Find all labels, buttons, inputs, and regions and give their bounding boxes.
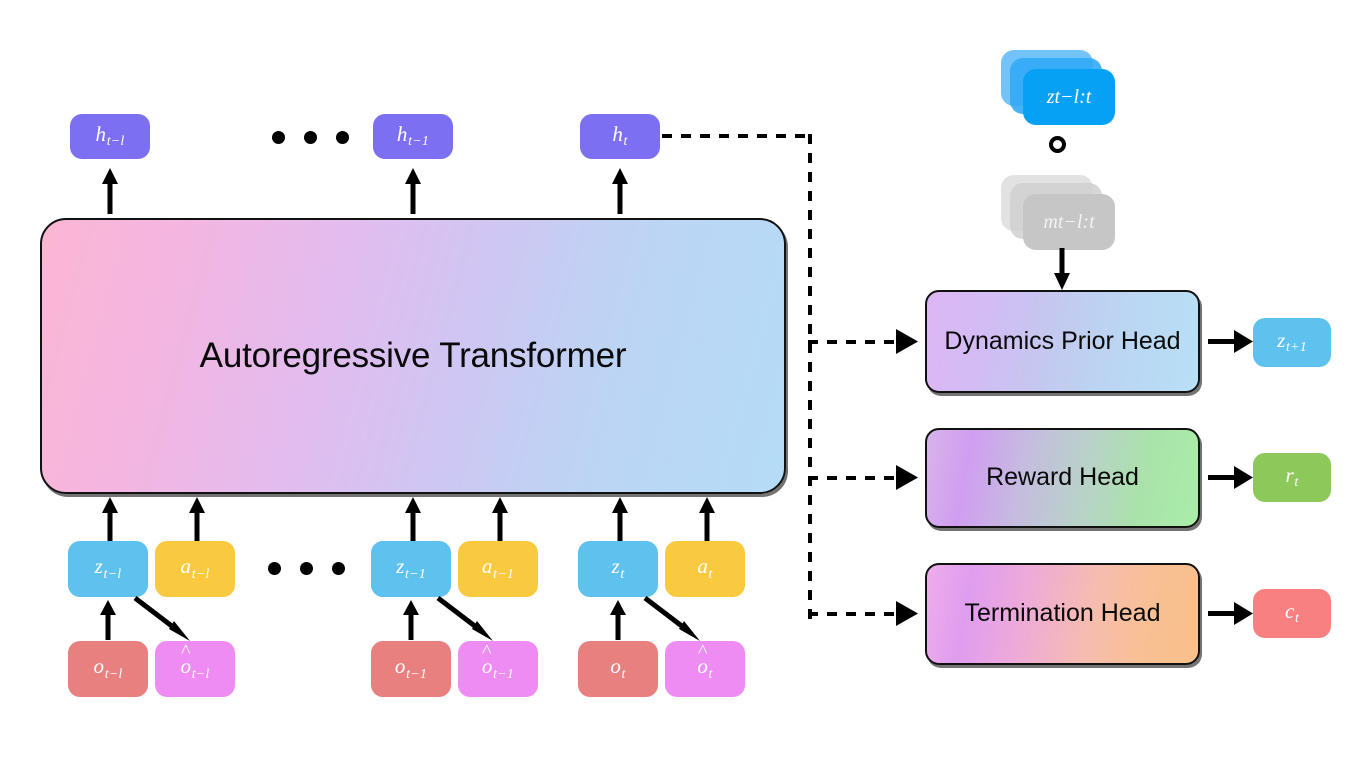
- observation-box-t-minus-1: ot−1: [371, 641, 451, 697]
- observation-box-t-minus-l: ot−l: [68, 641, 148, 697]
- reward-head: Reward Head: [925, 428, 1200, 528]
- output-box-termination: ct: [1253, 589, 1331, 638]
- out-z-sub: t+1: [1285, 340, 1306, 355]
- arrow-z2-to-transformer: [611, 497, 629, 543]
- action-box-t: at: [665, 541, 745, 597]
- mask-stack-card-front: mt−l:t: [1023, 194, 1115, 250]
- h-sub-1: t−1: [408, 134, 429, 149]
- reward-head-label: Reward Head: [986, 463, 1139, 493]
- dot: [300, 562, 313, 575]
- action-box-t-minus-l: at−l: [155, 541, 235, 597]
- reconstruction-box-t-minus-1: ot−1: [458, 641, 538, 697]
- latent-sequence-stack: zt−l:t: [1001, 50, 1121, 125]
- hidden-state-box-t: ht: [580, 114, 660, 159]
- o-hat-base-1: o: [482, 656, 493, 677]
- o-hat-sub-2: t: [708, 667, 713, 682]
- arrowhead-reward-input: [890, 464, 920, 491]
- dashed-link-ht-to-trunk: [662, 134, 812, 138]
- out-c-sub: t: [1294, 611, 1299, 626]
- o-base-1: o: [395, 654, 406, 678]
- o-hat-base-0: o: [180, 656, 191, 677]
- latent-stack-card-front: zt−l:t: [1023, 69, 1115, 125]
- out-r-base: r: [1286, 463, 1294, 487]
- hidden-state-box-t-minus-l: ht−l: [70, 114, 150, 159]
- observation-box-t: ot: [578, 641, 658, 697]
- output-box-next-latent: zt+1: [1253, 318, 1331, 367]
- arrow-decode-0: [133, 596, 197, 648]
- a-base-2: a: [697, 554, 708, 578]
- action-box-t-minus-1: at−1: [458, 541, 538, 597]
- arrowhead-dynamics-prior-input: [890, 328, 920, 355]
- dynamics-prior-head-label: Dynamics Prior Head: [944, 327, 1180, 357]
- arrow-z1-to-transformer: [404, 497, 422, 543]
- h-base-0: h: [95, 122, 106, 146]
- dot: [268, 562, 281, 575]
- arrow-dynamics-prior-to-output: [1208, 328, 1254, 355]
- termination-head-label: Termination Head: [965, 599, 1161, 629]
- arrow-a1-to-transformer: [491, 497, 509, 543]
- composition-operator-icon: [1049, 136, 1066, 153]
- arrow-encode-2: [609, 600, 627, 640]
- output-box-reward: rt: [1253, 453, 1331, 502]
- latent-box-t: zt: [578, 541, 658, 597]
- dot: [272, 131, 285, 144]
- transformer-label: Autoregressive Transformer: [200, 336, 627, 376]
- z-sub-0: t−l: [103, 567, 121, 582]
- o-base-2: o: [610, 654, 621, 678]
- reconstruction-box-t: ot: [665, 641, 745, 697]
- out-r-sub: t: [1294, 475, 1299, 490]
- dynamics-prior-head: Dynamics Prior Head: [925, 290, 1200, 393]
- arrow-a0-to-transformer: [188, 497, 206, 543]
- dot: [304, 131, 317, 144]
- ellipsis-tokens: [268, 562, 345, 575]
- arrow-reward-to-output: [1208, 464, 1254, 491]
- z-base-0: z: [95, 554, 103, 578]
- o-hat-sub-1: t−1: [493, 667, 514, 682]
- arrow-encode-0: [99, 600, 117, 640]
- arrow-encode-1: [402, 600, 420, 640]
- a-base-0: a: [180, 554, 191, 578]
- termination-head: Termination Head: [925, 563, 1200, 665]
- dashed-branch-to-termination: [808, 612, 896, 616]
- a-sub-2: t: [708, 567, 713, 582]
- latent-box-t-minus-1: zt−1: [371, 541, 451, 597]
- o-sub-1: t−1: [406, 667, 427, 682]
- h-base-2: h: [612, 122, 623, 146]
- reconstruction-box-t-minus-l: ot−l: [155, 641, 235, 697]
- o-sub-2: t: [621, 667, 626, 682]
- diagram-canvas: Autoregressive Transformer ht−l ht−1 ht: [0, 0, 1370, 771]
- z-sub-1: t−1: [404, 567, 425, 582]
- o-base-0: o: [93, 654, 104, 678]
- o-hat-sub-0: t−l: [191, 667, 209, 682]
- m-stack-sub: t−l:t: [1058, 211, 1095, 233]
- arrow-termination-to-output: [1208, 600, 1254, 627]
- ellipsis-hidden-states: [272, 131, 349, 144]
- arrow-z0-to-transformer: [101, 497, 119, 543]
- dashed-branch-to-dynamics-prior: [808, 340, 896, 344]
- a-base-1: a: [482, 554, 493, 578]
- o-hat-base-2: o: [697, 656, 708, 677]
- z-sub-2: t: [620, 567, 625, 582]
- arrow-transformer-to-h-2: [611, 168, 629, 214]
- arrow-transformer-to-h-1: [404, 168, 422, 214]
- arrow-a2-to-transformer: [698, 497, 716, 543]
- dot: [332, 562, 345, 575]
- arrowhead-termination-input: [890, 600, 920, 627]
- h-sub-2: t: [623, 134, 628, 149]
- hidden-state-box-t-minus-1: ht−1: [373, 114, 453, 159]
- h-base-1: h: [397, 122, 408, 146]
- m-stack-base: m: [1043, 211, 1057, 233]
- dashed-trunk: [808, 134, 812, 622]
- z-stack-sub: t−l:t: [1054, 86, 1091, 108]
- o-sub-0: t−l: [104, 667, 122, 682]
- arrow-decode-1: [436, 596, 500, 648]
- latent-box-t-minus-l: zt−l: [68, 541, 148, 597]
- arrow-transformer-to-h-0: [101, 168, 119, 214]
- dashed-branch-to-reward: [808, 476, 896, 480]
- a-sub-1: t−1: [493, 567, 514, 582]
- a-sub-0: t−l: [191, 567, 209, 582]
- z-base-2: z: [612, 554, 620, 578]
- dot: [336, 131, 349, 144]
- h-sub-0: t−l: [106, 134, 124, 149]
- arrow-decode-2: [643, 596, 707, 648]
- autoregressive-transformer-block: Autoregressive Transformer: [40, 218, 786, 494]
- arrow-stacks-to-dynamics-prior: [1053, 248, 1071, 290]
- mask-sequence-stack: mt−l:t: [1001, 175, 1121, 250]
